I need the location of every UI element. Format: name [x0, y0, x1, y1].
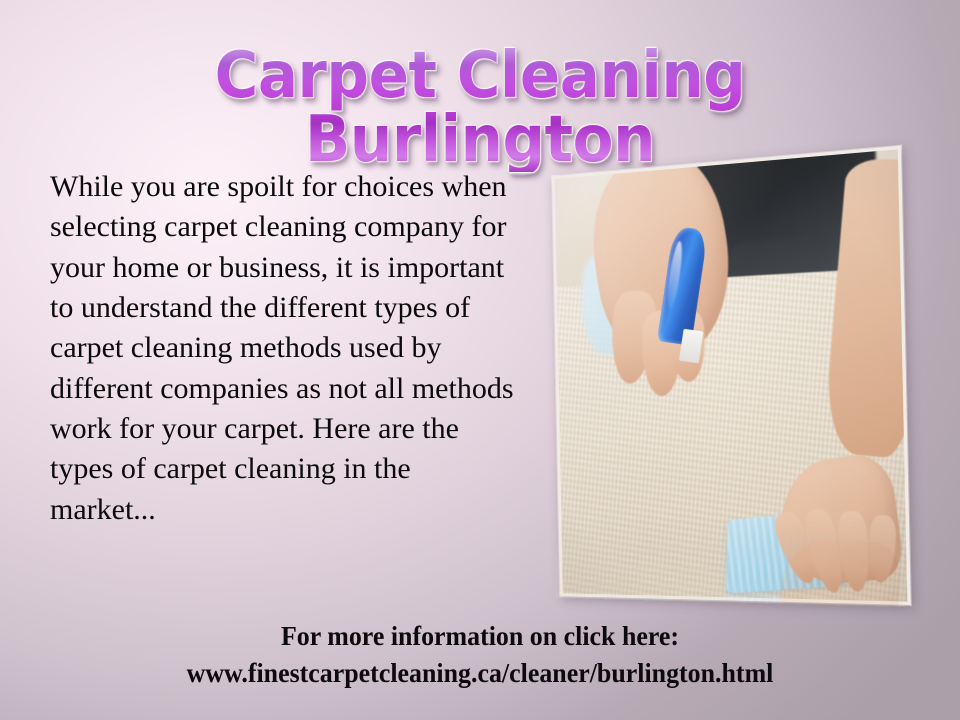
footer-url[interactable]: www.finestcarpetcleaning.ca/cleaner/burl…: [19, 654, 941, 692]
footer-call-to-action: For more information on click here:: [19, 618, 941, 654]
footer: For more information on click here: www.…: [0, 618, 960, 692]
carpet-cleaning-photo: [555, 149, 908, 601]
photo-stage: [548, 168, 920, 668]
photo-frame: [552, 146, 911, 605]
page-title-text: Carpet Cleaning Burlington: [34, 44, 927, 172]
slide-canvas: Carpet Cleaning Burlington Carpet Cleani…: [0, 0, 960, 720]
body-paragraph: While you are spoilt for choices when se…: [50, 167, 522, 530]
